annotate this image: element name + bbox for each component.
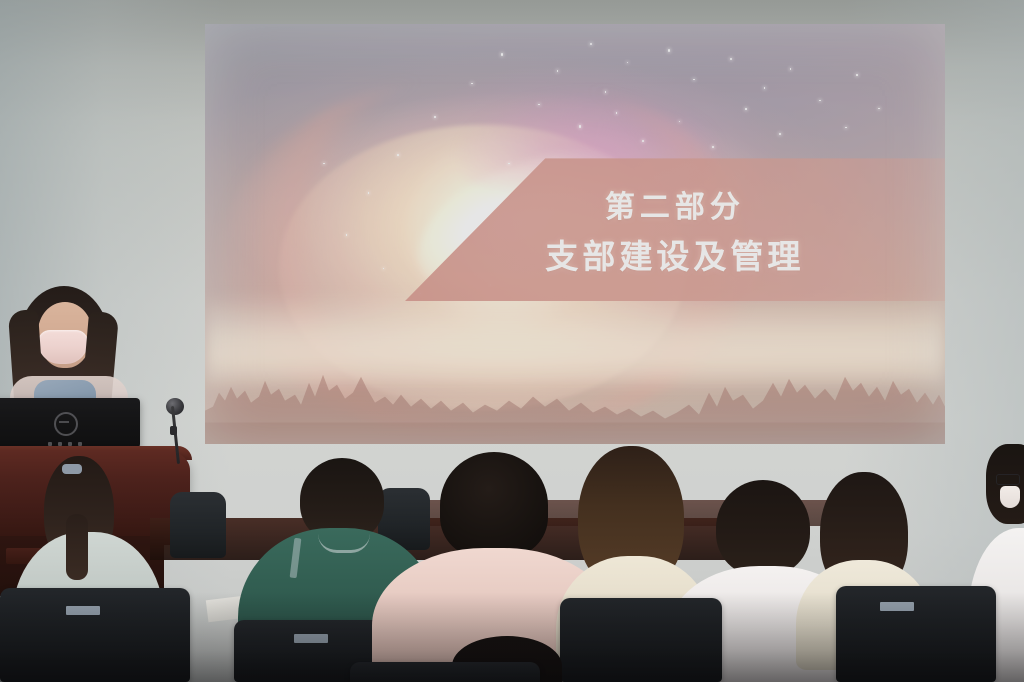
star-4 (668, 49, 671, 52)
projection-screen: 第二部分 支部建设及管理 (205, 24, 945, 444)
slide-title-line-1: 第二部分 (605, 182, 745, 226)
microphone-head-icon (166, 398, 184, 415)
audience-area (0, 430, 1024, 682)
attendee-center-pink-head (440, 452, 548, 558)
star-20 (434, 116, 436, 118)
star-16 (779, 133, 781, 135)
city-skyline-silhouette (205, 331, 945, 444)
hair-clip-icon (62, 464, 82, 474)
star-9 (538, 104, 540, 106)
star-19 (471, 83, 473, 85)
star-10 (579, 125, 582, 128)
star-21 (397, 154, 399, 156)
star-8 (790, 68, 792, 70)
star-24 (383, 268, 385, 270)
chair-front-right[interactable] (836, 586, 996, 682)
star-23 (346, 234, 348, 236)
star-18 (845, 127, 847, 129)
star-11 (616, 112, 618, 114)
empty-chair-left[interactable] (170, 492, 226, 558)
star-33 (878, 108, 879, 109)
presentation-room-scene: 第二部分 支部建设及管理 (0, 0, 1024, 682)
star-15 (745, 108, 747, 110)
star-7 (764, 87, 766, 89)
attendee-ponytail-tail (66, 514, 88, 580)
star-32 (856, 74, 858, 76)
star-17 (819, 100, 821, 102)
star-22 (368, 192, 370, 194)
chair-front-center[interactable] (560, 598, 722, 682)
star-0 (501, 53, 503, 55)
star-29 (323, 163, 325, 165)
star-13 (679, 121, 681, 123)
attendee-far-right-face-mask (1000, 486, 1020, 508)
slide-title-line-2: 支部建设及管理 (545, 230, 804, 278)
star-2 (590, 43, 592, 45)
star-12 (642, 140, 644, 142)
chair-tag-front-left (66, 606, 100, 615)
star-14 (712, 146, 714, 148)
star-6 (730, 58, 732, 60)
star-1 (557, 70, 559, 72)
chair-front-left[interactable] (0, 588, 190, 682)
chair-tag-front-right (880, 602, 914, 611)
attendee-white-shirt-head (716, 480, 810, 576)
star-31 (605, 91, 606, 92)
star-5 (693, 79, 695, 81)
chair-front-row-left[interactable] (350, 662, 540, 682)
chair-tag-green-polo (294, 634, 328, 643)
slide-title-block: 第二部分 支部建设及管理 (405, 158, 945, 301)
star-3 (627, 62, 629, 64)
glasses-icon (996, 474, 1020, 485)
